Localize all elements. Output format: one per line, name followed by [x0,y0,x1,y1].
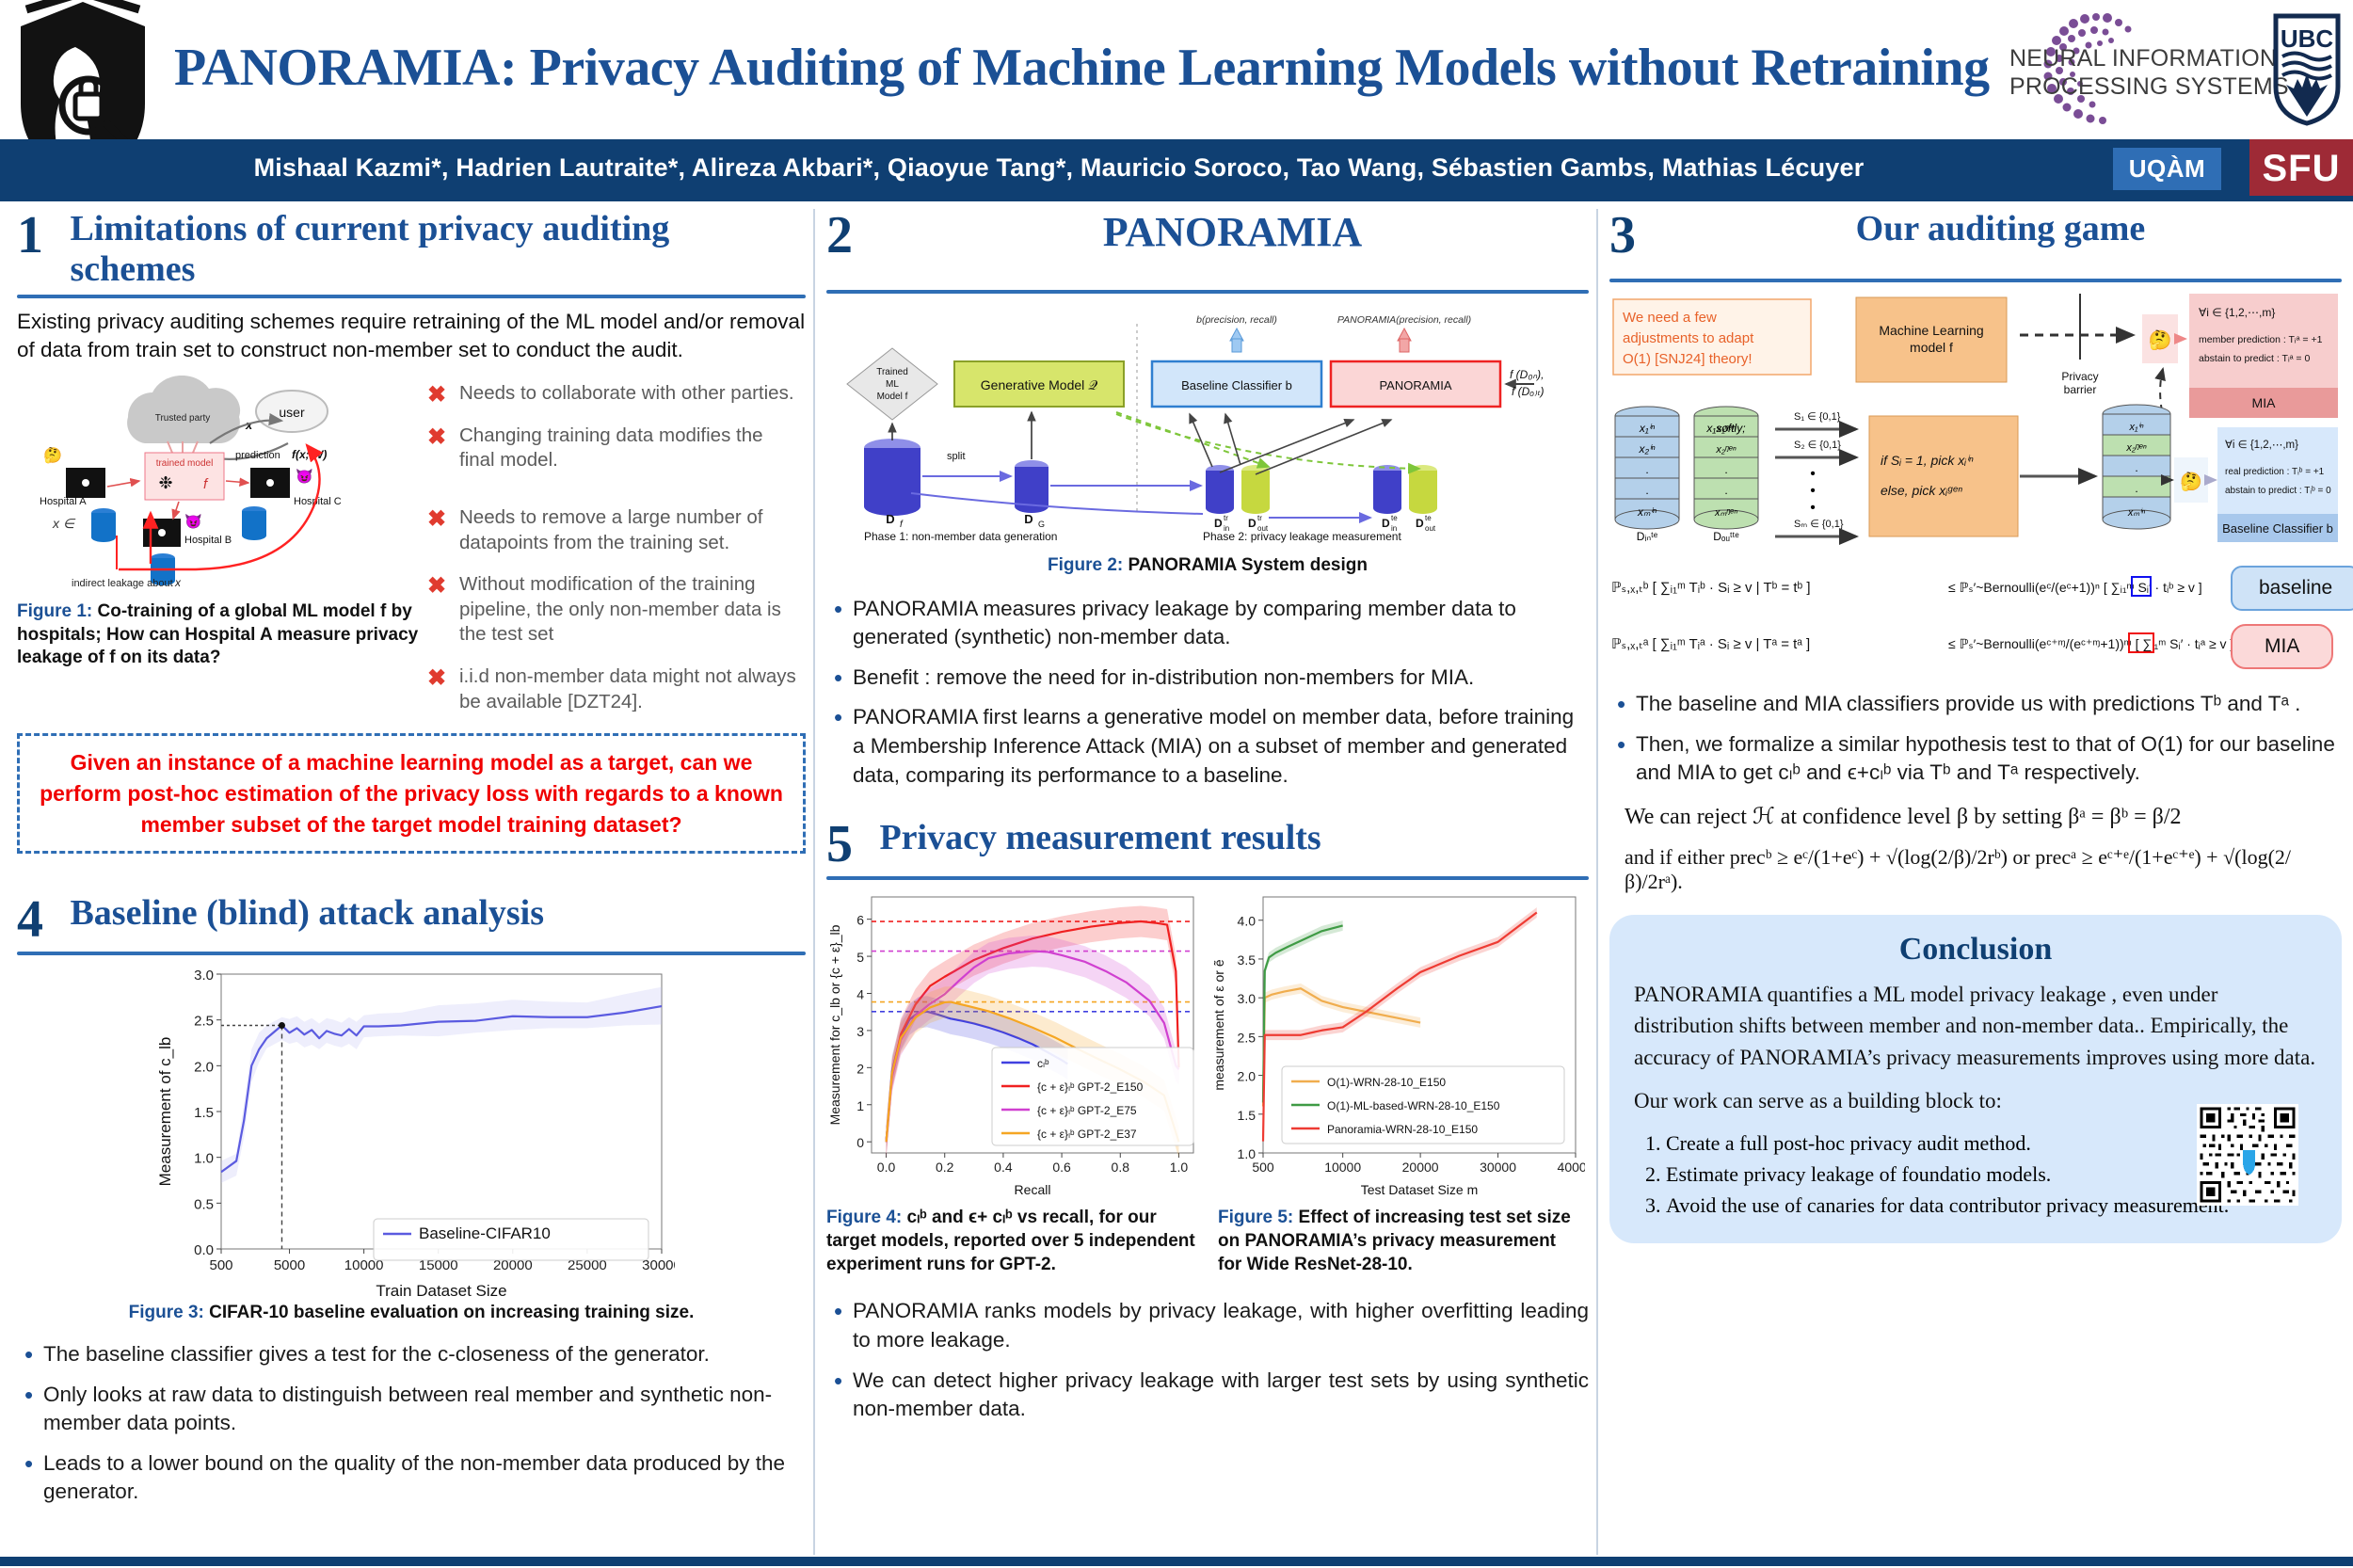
column-left: 1 Limitations of current privacy auditin… [17,209,806,1518]
svg-text:xₘⁱⁿ: xₘⁱⁿ [2127,507,2145,519]
svg-text:D: D [1214,517,1223,530]
cylinder-dout-tr: D outtr [1241,465,1270,533]
figure-3-caption-text: CIFAR-10 baseline evaluation on increasi… [209,1303,694,1322]
svg-text:1.0: 1.0 [194,1151,214,1167]
svg-text:1.5: 1.5 [1238,1108,1257,1123]
neurips-wordmark: NEURAL INFORMATION PROCESSING SYSTEMS [2009,45,2289,101]
mia-panel: ∀i ∈ {1,2,⋯,m} member prediction : Tᵢᵃ =… [2189,294,2338,418]
neurips-line-2: PROCESSING SYSTEMS [2009,73,2289,102]
svg-text:D: D [1416,517,1424,530]
list-item: PANORAMIA ranks models by privacy leakag… [826,1297,1589,1354]
svg-text:3.5: 3.5 [1238,952,1257,968]
svg-text:3: 3 [856,1024,864,1039]
svg-text:500: 500 [1252,1160,1274,1175]
svg-text:Machine Learning: Machine Learning [1879,323,1983,338]
section-3-bullets: The baseline and MIA classifiers provide… [1609,690,2342,788]
svg-text:.: . [1724,484,1727,497]
hypothesis-equations: ℙₛ,ₓ,ₜᵇ [ ∑ᵢ₁ᵐ Tᵢᵇ · Sᵢ ≥ v | Tᵇ = tᵇ ] … [1609,554,2342,673]
cylinder-df: D f [864,439,920,530]
list-item: We can detect higher privacy leakage wit… [826,1367,1589,1424]
limitation-item: ✖Changing training data modifies the fin… [425,424,802,473]
svg-text:1: 1 [856,1098,864,1113]
section-2-rule [826,290,1589,294]
figure-5-label: Figure 5: [1218,1208,1293,1227]
poster-header: PANORAMIA: Privacy Auditing of Machine L… [0,0,2353,139]
svg-text:Measurement for c_lb or {c + ε: Measurement for c_lb or {c + ε}_lb [827,925,842,1126]
list-item: Benefit : remove the need for in-distrib… [826,664,1589,693]
cross-icon: ✖ [427,571,446,600]
eq-baseline-tag: baseline [2231,566,2353,611]
svg-text:20000: 20000 [1402,1160,1439,1175]
section-2-number: 2 [826,209,875,262]
svg-text:30000: 30000 [1480,1160,1516,1175]
limitation-text: Without modification of the training pip… [459,573,781,645]
section-3-rule [1609,279,2342,282]
svg-text:f: f [900,520,904,530]
list-item: Only looks at raw data to distinguish be… [17,1381,806,1438]
section-5-title: Privacy measurement results [879,818,1585,858]
thinking-emoji: 🤔 [43,447,62,464]
figure-4-chart: 01234560.00.20.40.60.81.0Measurement for… [826,888,1203,1203]
svg-text:D: D [1024,512,1032,526]
svg-text:4.0: 4.0 [1238,914,1257,929]
svg-text:xₘᵑᵉⁿ: xₘᵑᵉⁿ [1714,507,1737,519]
hospital-a-label: Hospital A [40,496,87,507]
svg-text:.: . [1645,463,1648,476]
section-4-bullets: The baseline classifier gives a test for… [17,1340,806,1507]
column-divider-2 [1596,209,1598,1555]
svg-text:0: 0 [856,1135,864,1150]
svg-text:∀i ∈ {1,2,⋯,m}: ∀i ∈ {1,2,⋯,m} [2199,306,2275,319]
list-item: PANORAMIA first learns a generative mode… [826,703,1589,790]
figure-2-caption: Figure 2: PANORAMIA System design [826,554,1589,578]
section-5-header: 5 Privacy measurement results [826,818,1589,880]
pick-line-1: if Sᵢ = 1, pick xᵢⁱⁿ [1881,453,1974,468]
svg-text:O(1)-WRN-28-10_E150: O(1)-WRN-28-10_E150 [1327,1076,1446,1089]
svg-text:3.0: 3.0 [194,968,214,984]
section-1-header: 1 Limitations of current privacy auditin… [17,209,806,298]
svg-text:barrier: barrier [2064,383,2097,396]
cloud-trusted-party: Trusted party [127,376,240,443]
limitation-item: ✖i.i.d non-member data might not always … [425,664,802,714]
eq-mia-rhs: ≤ ℙₛ′~Bernoulli(eᶜ⁺ᶬ/(eᶜ⁺ᶬ+1))ᵐ [ ∑ᵢ₁ᵐ S… [1948,636,2233,651]
d-out-te-label: Dₒᵤᵗᵗᵉ [1713,530,1739,543]
f-dout-label: f (Dₒ₎ₜ) [1512,385,1545,398]
section-2-header: 2 PANORAMIA [826,209,1589,294]
svg-text:member prediction : Tᵢᵃ = +1: member prediction : Tᵢᵃ = +1 [2199,334,2323,345]
svg-text:G: G [1038,520,1045,529]
x-membership-label: x ∈ [52,516,76,531]
svg-text:5000: 5000 [274,1257,305,1273]
section-5-number: 5 [826,818,875,871]
ubc-label: UBC [2281,24,2334,53]
svg-text:1.5: 1.5 [194,1105,214,1121]
list-item: The baseline and MIA classifiers provide… [1609,690,2342,719]
section-3-header: 3 Our auditing game [1609,209,2342,282]
svg-text:x₁ⁱⁿ: x₁ⁱⁿ [2129,422,2144,433]
svg-text:abstain to predict : Tᵢᵃ = 0: abstain to predict : Tᵢᵃ = 0 [2199,353,2310,364]
pick-line-2: else, pick xᵢᵍᵉⁿ [1881,483,1962,498]
author-bar: Mishaal Kazmi*, Hadrien Lautraite*, Alir… [0,139,2353,196]
svg-text:x₂ᵑᵉⁿ: x₂ᵑᵉⁿ [2125,442,2146,454]
figure-1-diagram: Trusted party user x prediction f(x; W) … [17,376,412,590]
header-divider [0,196,2353,201]
svg-text:.: . [1645,484,1648,497]
svg-text:D: D [1382,517,1390,530]
svg-text:Baseline-CIFAR10: Baseline-CIFAR10 [419,1224,551,1242]
d-in-te-label: Dᵢₙᵗᵉ [1637,530,1658,543]
thinking-emoji-baseline: 🤔 [2180,472,2202,492]
svg-text:•: • [1810,483,1816,499]
hospital-a-node: Hospital A 🤔 [40,447,105,507]
baseline-label: Baseline Classifier b [2222,521,2333,536]
hospital-b-label: Hospital B [184,535,232,546]
ubc-logo-icon: UBC [2273,13,2341,126]
section-3-number: 3 [1609,209,1658,262]
svg-text:out: out [1425,524,1436,533]
figure-2-label: Figure 2: [1048,555,1123,575]
figure-2-caption-text: PANORAMIA System design [1128,555,1368,575]
trained-ml-line1: Trained [876,367,908,377]
note-callout: We need a few adjustments to adapt O(1) … [1613,299,1811,375]
cylinder-d-out-te: x₁softly; x₁ᵑᵉⁿ x₂ᵑᵉⁿ .. xₘᵑᵉⁿ Dₒᵤᵗᵗᵉ [1694,407,1758,543]
svg-text:1.0: 1.0 [1170,1160,1189,1175]
prediction-label: prediction [235,450,280,461]
svg-text:x: x [174,576,182,589]
section-1-title: Limitations of current privacy auditing … [70,209,802,289]
generative-model-label: Generative Model 𝒬 [981,377,1097,392]
svg-text:2: 2 [856,1062,864,1077]
figure-5-chart: 1.01.52.02.53.03.54.05001000020000300004… [1209,888,1585,1203]
trained-ml-line2: ML [886,379,899,390]
ml-model-box: Machine Learning model f [1856,297,2007,382]
precision-condition-line: and if either precᵇ ≥ eᶜ/(1+eᶜ) + √(log(… [1625,845,2342,894]
user-node: user [256,391,328,432]
limitation-text: Needs to remove a large number of datapo… [459,506,762,553]
trained-model-label: trained model [156,458,214,469]
cylinder-mixed: x₁ⁱⁿ x₂ᵑᵉⁿ . . xₘⁱⁿ [2103,405,2170,529]
svg-text:Measurement of c_lb: Measurement of c_lb [156,1037,174,1187]
mia-emoji-box: 🤔 [2142,314,2178,363]
f-din-label: f (D₀ₙ), [1510,368,1545,381]
section-5-rule [826,876,1589,880]
svg-text:2.0: 2.0 [194,1060,214,1076]
cloud-label: Trusted party [155,413,211,424]
qr-code-icon[interactable] [2197,1104,2298,1206]
research-question-text: Given an instance of a machine learning … [40,750,783,836]
reject-hypothesis-line: We can reject ℋ at confidence level β by… [1625,803,2342,830]
svg-text:40000: 40000 [1558,1160,1585,1175]
research-question-box: Given an instance of a machine learning … [17,733,806,854]
svg-text:tr: tr [1224,514,1228,522]
cross-icon: ✖ [427,664,446,693]
thinking-emoji-mia: 🤔 [2149,329,2172,351]
panoramia-precision-recall-label: PANORAMIA(precision, recall) [1337,314,1471,326]
section-2-bullets: PANORAMIA measures privacy leakage by co… [826,595,1589,791]
panoramia-box-label: PANORAMIA [1379,378,1451,392]
b-precision-recall-label: b(precision, recall) [1196,314,1277,326]
svg-text:x₂ⁱⁿ: x₂ⁱⁿ [1638,442,1656,456]
figure-3-chart: 0.00.51.01.52.02.53.05005000100001500020… [148,961,675,1300]
limitations-list: ✖Needs to collaborate with other parties… [425,381,802,731]
devil-emoji-b: 😈 [184,513,202,530]
hospital-b-node: Hospital B 😈 [143,513,232,547]
svg-text:D: D [1248,517,1257,530]
bernoulli-s2: S₂ ∈ {0,1} [1794,440,1841,451]
eq-mia-lhs: ℙₛ,ₓ,ₜᵃ [ ∑ᵢ₁ᵐ Tᵢᵃ · Sᵢ ≥ v | Tᵃ = tᵃ ] [1611,636,1810,652]
cross-icon: ✖ [427,423,446,452]
figure-4-caption: Figure 4: cₗᵇ and ϵ+ cₗᵇ vs recall, for … [826,1207,1203,1276]
section-1-number: 1 [17,209,66,262]
section-4-rule [17,952,806,955]
section-4-header: 4 Baseline (blind) attack analysis [17,893,806,955]
trained-model-box: trained model ❉ f [145,453,224,500]
neurips-line-1: NEURAL INFORMATION [2009,45,2289,73]
svg-text:Panoramia-WRN-28-10_E150: Panoramia-WRN-28-10_E150 [1327,1123,1478,1136]
author-list: Mishaal Kazmi*, Hadrien Lautraite*, Alir… [0,139,2118,196]
cylinder-d-in-te: x₁ⁱⁿ x₂ⁱⁿ .. xₘⁱⁿ Dᵢₙᵗᵉ [1615,407,1679,543]
eq-mia-tag: MIA [2231,624,2333,669]
list-item: Leads to a lower bound on the quality of… [17,1449,806,1507]
user-label: user [279,405,305,420]
sfu-logo-icon: SFU [2249,139,2353,198]
column-divider-1 [813,209,815,1555]
svg-text:∀i ∈ {1,2,⋯,m}: ∀i ∈ {1,2,⋯,m} [2225,440,2298,451]
phase1-label: Phase 1: non-member data generation [864,530,1057,543]
cross-icon: ✖ [427,504,446,534]
section-4-title: Baseline (blind) attack analysis [70,893,802,934]
svg-text:2.5: 2.5 [1238,1031,1257,1046]
conclusion-title: Conclusion [1634,932,2317,968]
section-2-title: PANORAMIA [879,209,1585,255]
section-4-number: 4 [17,893,66,946]
svg-text:❉: ❉ [158,473,172,492]
cylinder-din-tr: D intr [1206,465,1234,533]
svg-text:0.6: 0.6 [1052,1160,1071,1175]
svg-text:cₗᵇ: cₗᵇ [1037,1057,1049,1070]
svg-text:.: . [1724,463,1727,476]
baseline-emoji-box: 🤔 [2174,457,2208,503]
svg-text:.: . [2135,482,2137,495]
svg-text:Test Dataset Size m: Test Dataset Size m [1361,1182,1479,1197]
auditing-game-diagram: We need a few adjustments to adapt O(1) … [1609,294,2342,548]
svg-text:abstain to predict : Tᵢᵇ = 0: abstain to predict : Tᵢᵇ = 0 [2225,486,2331,496]
svg-text:Privacy: Privacy [2061,370,2098,383]
uqam-logo-icon: UQÀM [2113,148,2221,190]
limitation-item: ✖Without modification of the training pi… [425,572,802,648]
svg-text:x₂ᵑᵉⁿ: x₂ᵑᵉⁿ [1715,444,1736,456]
svg-text:x₁ᵑᵉⁿ: x₁ᵑᵉⁿ [1716,424,1737,435]
svg-text:4: 4 [856,987,864,1002]
svg-text:6: 6 [856,913,864,928]
limitation-item: ✖Needs to remove a large number of datap… [425,505,802,555]
footer-divider [0,1557,2353,1566]
privacy-barrier: Privacy barrier [2061,294,2098,396]
figure-1-label: Figure 1: [17,601,92,621]
cylinder-dg: D G [1015,460,1048,529]
svg-text:2.0: 2.0 [1238,1069,1257,1084]
svg-text:D: D [886,512,894,526]
note-line-1: We need a few [1623,310,1717,326]
figure-2-diagram: b(precision, recall) PANORAMIA(precision… [826,309,1551,544]
eq-baseline-rhs: ≤ ℙₛ′~Bernoulli(eᶜ/(eᶜ+1))ⁿ [ ∑ᵢ₁ᵐ Sᵢ′ ·… [1948,580,2202,595]
devil-emoji-c: 😈 [296,468,313,485]
svg-text:Recall: Recall [1015,1182,1051,1197]
svg-text:•: • [1810,500,1816,516]
svg-text:0.8: 0.8 [1112,1160,1130,1175]
section-3-title: Our auditing game [1662,209,2338,249]
svg-text:0.0: 0.0 [877,1160,896,1175]
figure-4-label: Figure 4: [826,1208,902,1227]
bernoulli-sm: Sₘ ∈ {0,1} [1794,519,1844,530]
svg-text:5: 5 [856,950,864,965]
limitation-text: i.i.d non-member data might not always b… [459,665,796,712]
svg-text:real prediction : Tᵢᵇ = +1: real prediction : Tᵢᵇ = +1 [2225,467,2325,477]
svg-text:Train Dataset Size: Train Dataset Size [376,1282,506,1300]
baseline-classifier-label: Baseline Classifier b [1181,378,1292,392]
cylinder-dout-te: D outte [1409,465,1437,533]
note-line-2: adjustments to adapt [1623,330,1754,346]
figure-3-caption: Figure 3: CIFAR-10 baseline evaluation o… [17,1302,806,1325]
mia-label: MIA [2252,395,2277,410]
cylinder-din-te: D inte [1373,465,1401,533]
svg-text:2.5: 2.5 [194,1014,214,1030]
svg-text:500: 500 [209,1257,232,1273]
svg-text:model f: model f [1910,340,1953,355]
page-title: PANORAMIA: Privacy Auditing of Machine L… [174,38,1962,98]
cross-icon: ✖ [427,380,446,409]
hospital-c-node: Hospital C 😈 [250,468,342,507]
list-item: Then, we formalize a similar hypothesis … [1609,730,2342,788]
svg-text:{c + ε}ₗᵇ GPT-2_E150: {c + ε}ₗᵇ GPT-2_E150 [1037,1080,1144,1094]
svg-text:.: . [2135,461,2137,474]
trained-ml-line3: Model f [877,392,908,402]
section-1-rule [17,295,806,298]
svg-text:xₘⁱⁿ: xₘⁱⁿ [1637,505,1657,519]
limitation-text: Changing training data modifies the fina… [459,424,763,472]
leakage-label: indirect leakage about [72,578,173,589]
svg-text:{c + ε}ₗᵇ GPT-2_E37: {c + ε}ₗᵇ GPT-2_E37 [1037,1128,1137,1141]
limitation-text: Needs to collaborate with other parties. [459,382,794,404]
figure-5-caption: Figure 5: Effect of increasing test set … [1218,1207,1576,1276]
baseline-panel: ∀i ∈ {1,2,⋯,m} real prediction : Tᵢᵇ = +… [2217,427,2338,542]
conclusion-box: Conclusion PANORAMIA quantifies a ML mod… [1609,915,2342,1243]
list-item: The baseline classifier gives a test for… [17,1340,806,1369]
svg-text:{c + ε}ₗᵇ GPT-2_E75: {c + ε}ₗᵇ GPT-2_E75 [1037,1104,1137,1117]
column-middle: 2 PANORAMIA b(precision, recall) PANORAM… [826,209,1589,1435]
phase2-label: Phase 2: privacy leakage measurement [1203,530,1401,543]
svg-text:tr: tr [1257,514,1262,522]
svg-text:3.0: 3.0 [1238,991,1257,1006]
bernoulli-arrows: S₁ ∈ {0,1} S₂ ∈ {0,1} • • • Sₘ ∈ {0,1} [1775,411,1856,536]
note-line-3: O(1) [SNJ24] theory! [1623,351,1753,367]
svg-text:x₁ⁱⁿ: x₁ⁱⁿ [1639,422,1656,435]
split-label: split [947,451,966,462]
bernoulli-s1: S₁ ∈ {0,1} [1794,411,1841,423]
figure-1-caption: Figure 1: Co-training of a global ML mod… [17,600,422,670]
section-1-intro: Existing privacy auditing schemes requir… [17,308,806,364]
svg-text:0.0: 0.0 [194,1242,214,1258]
conclusion-paragraph-1: PANORAMIA quantifies a ML model privacy … [1634,979,2317,1074]
svg-text:O(1)-ML-based-WRN-28-10_E150: O(1)-ML-based-WRN-28-10_E150 [1327,1099,1500,1112]
figure-3-label: Figure 3: [129,1303,204,1322]
svg-text:•: • [1810,466,1816,482]
svg-text:0.5: 0.5 [194,1197,214,1213]
svg-text:measurement of ε or ẽ: measurement of ε or ẽ [1211,959,1226,1091]
svg-text:0.4: 0.4 [994,1160,1013,1175]
svg-text:te: te [1425,514,1432,522]
svg-text:10000: 10000 [1324,1160,1361,1175]
limitation-item: ✖Needs to collaborate with other parties… [425,381,802,407]
svg-text:0.2: 0.2 [936,1160,954,1175]
section-5-bullets: PANORAMIA ranks models by privacy leakag… [826,1297,1589,1423]
pick-box: if Sᵢ = 1, pick xᵢⁱⁿ else, pick xᵢᵍᵉⁿ [1869,416,2018,536]
svg-text:te: te [1391,514,1398,522]
eq-baseline-lhs: ℙₛ,ₓ,ₜᵇ [ ∑ᵢ₁ᵐ Tᵢᵇ · Sᵢ ≥ v | Tᵇ = tᵇ ] [1611,580,1811,596]
column-right: 3 Our auditing game We need a few adjust… [1609,209,2342,1243]
list-item: PANORAMIA measures privacy leakage by co… [826,595,1589,652]
